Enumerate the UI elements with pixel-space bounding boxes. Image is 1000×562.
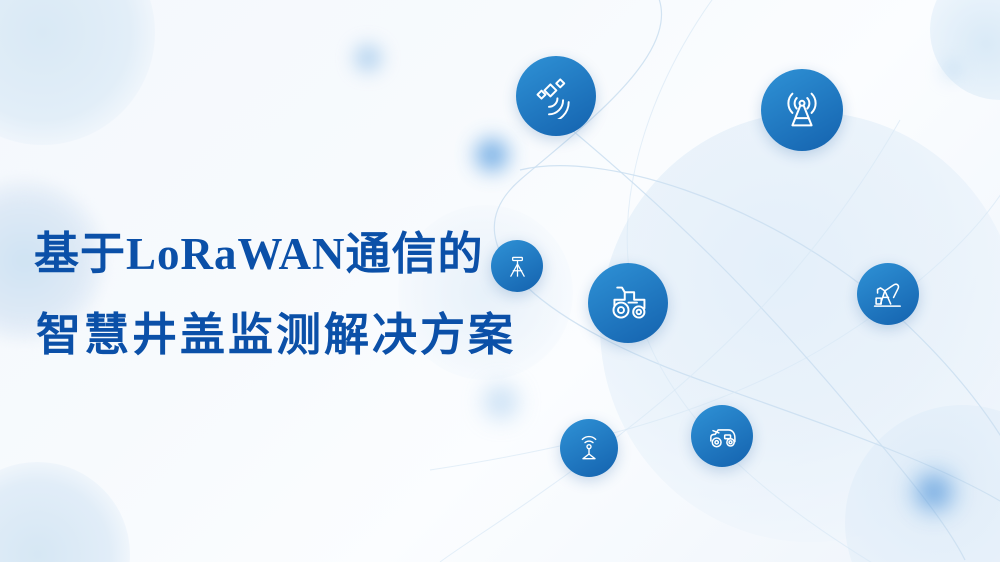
icon-node-robot-vehicle[interactable] [691, 405, 753, 467]
tractor-icon [606, 281, 651, 326]
accent-dot-2 [472, 135, 512, 175]
accent-dot-5 [939, 57, 965, 83]
accent-dot-4 [912, 470, 956, 514]
icon-node-oil-pumpjack[interactable] [857, 263, 919, 325]
oil-pumpjack-icon [871, 277, 906, 312]
icon-node-sensor-signal[interactable] [560, 419, 618, 477]
page-title: 基于LoRaWAN通信的 智慧井盖监测解决方案 [34, 232, 574, 358]
background-sphere-small [845, 405, 1000, 562]
accent-dot-1 [351, 41, 385, 75]
background-blob-top-right [930, 0, 1000, 100]
antenna-tower-icon [779, 87, 825, 133]
title-line-primary: 基于LoRaWAN通信的 [34, 232, 574, 277]
robot-vehicle-icon [705, 419, 740, 454]
sensor-signal-icon [573, 432, 605, 464]
background-blob-bottom-left [0, 462, 130, 562]
icon-node-tractor[interactable] [588, 263, 668, 343]
background-blob-top-left [0, 0, 155, 145]
slide-canvas: 基于LoRaWAN通信的 智慧井盖监测解决方案 [0, 0, 1000, 562]
title-line-secondary: 智慧井盖监测解决方案 [36, 313, 574, 358]
accent-dot-3 [480, 381, 522, 423]
icon-node-antenna-tower[interactable] [761, 69, 843, 151]
icon-node-satellite[interactable] [516, 56, 596, 136]
satellite-icon [534, 74, 579, 119]
